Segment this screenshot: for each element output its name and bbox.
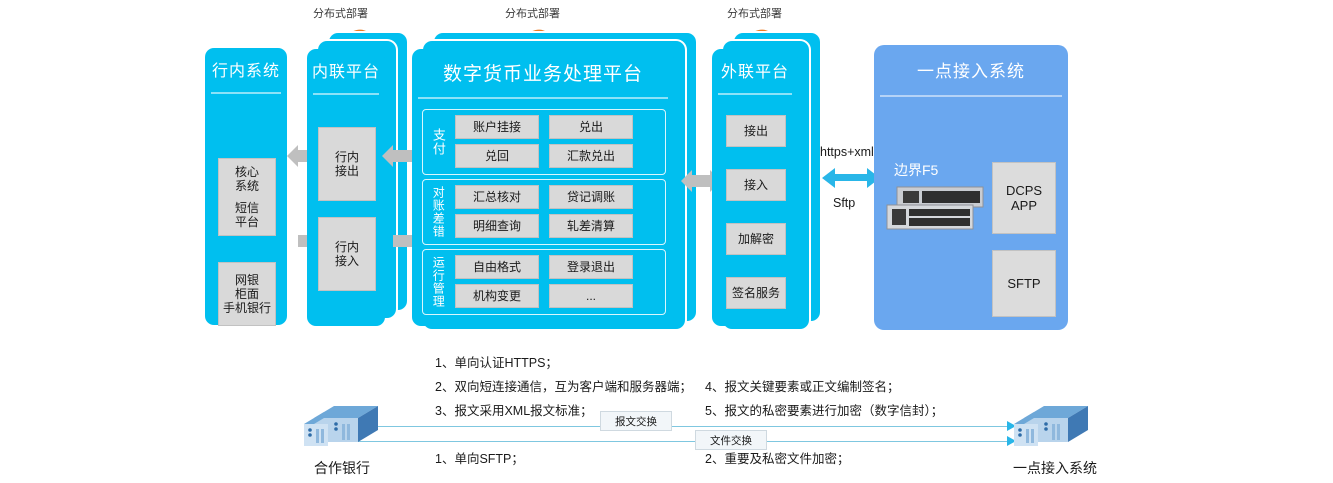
access-system-caption: 一点接入系统	[1000, 458, 1110, 478]
access-sftp-box[interactable]: SFTP	[992, 250, 1056, 317]
dcep-item-1-3[interactable]: 轧差清算	[549, 214, 633, 238]
note-3: 3、报文采用XML报文标准；	[435, 400, 593, 419]
dcep-item-1-0[interactable]: 汇总核对	[455, 185, 539, 209]
dcep-group-operation: 运行管理 自由格式 登录退出 机构变更 ...	[422, 249, 666, 315]
intranet-in-box[interactable]: 行内 接入	[318, 217, 376, 291]
intranet-platform-panel[interactable]: 内联平台 行内 接出 行内 接入	[307, 49, 385, 326]
message-exchange-tag: 报文交换	[600, 411, 672, 431]
intranet-platform-title: 内联平台	[307, 49, 385, 91]
bank-core-line-2: 系统	[235, 179, 259, 193]
dcep-group-reconcile-label: 对账差错	[427, 183, 449, 241]
access-system-title: 一点接入系统	[874, 45, 1068, 93]
file-exchange-tag: 文件交换	[695, 430, 767, 450]
protocol-label-top: https+xml	[820, 145, 874, 159]
message-exchange-line	[355, 426, 1015, 427]
protocol-label-bottom: Sftp	[833, 196, 855, 210]
partner-bank-caption: 合作银行	[295, 458, 389, 478]
deploy-label-intranet: 分布式部署	[313, 5, 368, 21]
external-box-3[interactable]: 签名服务	[726, 277, 786, 309]
dcep-platform-panel[interactable]: 数字货币业务处理平台 支付 账户挂接 兑出 兑回 汇款兑出 对账差错 汇总核对 …	[412, 49, 674, 326]
note-sftp-left: 1、单向SFTP；	[435, 448, 524, 467]
intranet-in-line-1: 行内	[335, 240, 359, 254]
dcep-item-2-1[interactable]: 登录退出	[549, 255, 633, 279]
note-4: 4、报文关键要素或正文编制签名；	[705, 376, 899, 395]
bank-core-box[interactable]: 核心 系统 短信 平台	[218, 158, 276, 236]
external-box-0[interactable]: 接出	[726, 115, 786, 147]
external-platform-panel[interactable]: 外联平台 接出 接入 加解密 签名服务	[712, 49, 798, 326]
dcep-item-0-3[interactable]: 汇款兑出	[549, 144, 633, 168]
access-dcps-line-2: APP	[1011, 198, 1037, 213]
dcep-platform-title: 数字货币业务处理平台	[412, 49, 674, 95]
arrow-external-access	[835, 174, 867, 181]
dcep-item-0-0[interactable]: 账户挂接	[455, 115, 539, 139]
dcep-item-0-1[interactable]: 兑出	[549, 115, 633, 139]
intranet-out-line-1: 行内	[335, 150, 359, 164]
dcep-item-2-2[interactable]: 机构变更	[455, 284, 539, 308]
partner-bank-server-icon	[300, 400, 384, 452]
intranet-in-line-2: 接入	[335, 254, 359, 268]
bank-system-panel[interactable]: 行内系统 核心 系统 短信 平台 网银 柜面 手机银行	[205, 48, 287, 325]
intranet-out-box[interactable]: 行内 接出	[318, 127, 376, 201]
f5-label: 边界F5	[894, 160, 938, 180]
dcep-group-operation-label: 运行管理	[427, 253, 449, 311]
deploy-label-external: 分布式部署	[727, 5, 782, 21]
bank-core-line-4: 短信	[235, 201, 259, 215]
intranet-out-line-2: 接出	[335, 164, 359, 178]
dcep-item-1-1[interactable]: 贷记调账	[549, 185, 633, 209]
dcep-item-1-2[interactable]: 明细查询	[455, 214, 539, 238]
note-5: 5、报文的私密要素进行加密（数字信封）；	[705, 400, 943, 419]
bank-core-line-1: 核心	[235, 165, 259, 179]
access-sftp-line-1: SFTP	[1007, 276, 1040, 291]
dcep-item-0-2[interactable]: 兑回	[455, 144, 539, 168]
access-dcps-app-box[interactable]: DCPS APP	[992, 162, 1056, 234]
external-box-2[interactable]: 加解密	[726, 223, 786, 255]
access-system-panel[interactable]: 一点接入系统 边界F5 DCPS APP SFTP	[874, 45, 1068, 330]
bank-channel-line-1: 网银	[235, 273, 259, 287]
bank-channel-line-2: 柜面	[235, 287, 259, 301]
bank-core-line-5: 平台	[235, 215, 259, 229]
note-2: 2、双向短连接通信，互为客户端和服务器端；	[435, 376, 692, 395]
bank-channel-line-3: 手机银行	[223, 301, 271, 315]
note-sftp-right: 2、重要及私密文件加密；	[705, 448, 849, 467]
note-1: 1、单向认证HTTPS；	[435, 352, 558, 371]
bank-channel-box[interactable]: 网银 柜面 手机银行	[218, 262, 276, 326]
dcep-item-2-3[interactable]: ...	[549, 284, 633, 308]
arrow-dcep-external	[692, 175, 710, 187]
deploy-label-dcep: 分布式部署	[505, 5, 560, 21]
bank-system-title: 行内系统	[205, 48, 287, 90]
access-system-server-icon	[1010, 400, 1094, 452]
dcep-item-2-0[interactable]: 自由格式	[455, 255, 539, 279]
external-box-1[interactable]: 接入	[726, 169, 786, 201]
dcep-group-reconcile: 对账差错 汇总核对 贷记调账 明细查询 轧差清算	[422, 179, 666, 245]
f5-switch-icon	[879, 185, 989, 237]
dcep-group-payment-label: 支付	[427, 116, 449, 168]
dcep-group-payment: 支付 账户挂接 兑出 兑回 汇款兑出	[422, 109, 666, 175]
file-exchange-line	[345, 441, 1015, 442]
access-dcps-line-1: DCPS	[1006, 183, 1042, 198]
external-platform-title: 外联平台	[712, 49, 798, 91]
